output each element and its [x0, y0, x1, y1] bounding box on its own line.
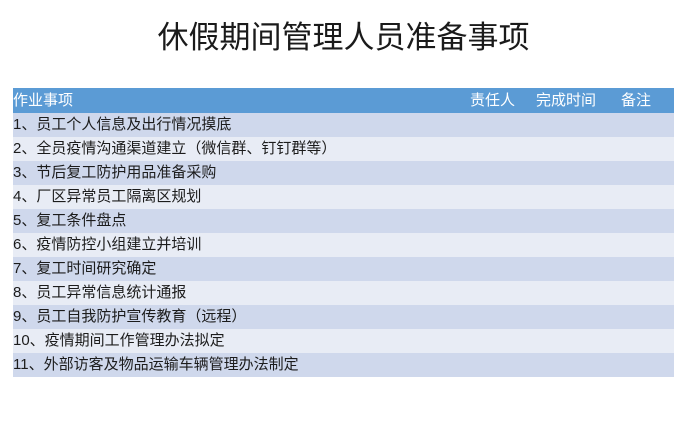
column-header-owner: 责任人: [470, 88, 536, 113]
cell-remark[interactable]: [621, 209, 674, 233]
cell-owner[interactable]: [470, 233, 536, 257]
table-row: 2、全员疫情沟通渠道建立（微信群、钉钉群等）: [13, 137, 674, 161]
cell-item: 2、全员疫情沟通渠道建立（微信群、钉钉群等）: [13, 137, 470, 161]
cell-item: 1、员工个人信息及出行情况摸底: [13, 113, 470, 137]
cell-remark[interactable]: [621, 137, 674, 161]
table-row: 10、疫情期间工作管理办法拟定: [13, 329, 674, 353]
cell-time[interactable]: [536, 305, 621, 329]
table-row: 7、复工时间研究确定: [13, 257, 674, 281]
table-header: 作业事项 责任人 完成时间 备注: [13, 88, 674, 113]
cell-time[interactable]: [536, 329, 621, 353]
cell-item: 6、疫情防控小组建立并培训: [13, 233, 470, 257]
cell-time[interactable]: [536, 257, 621, 281]
cell-owner[interactable]: [470, 305, 536, 329]
cell-owner[interactable]: [470, 113, 536, 137]
cell-item: 7、复工时间研究确定: [13, 257, 470, 281]
document-page: 休假期间管理人员准备事项 作业事项 责任人 完成时间 备注 1、员工个人信息及出…: [0, 0, 687, 424]
cell-owner[interactable]: [470, 209, 536, 233]
cell-owner[interactable]: [470, 281, 536, 305]
table-row: 4、厂区异常员工隔离区规划: [13, 185, 674, 209]
cell-time[interactable]: [536, 281, 621, 305]
cell-remark[interactable]: [621, 281, 674, 305]
cell-owner[interactable]: [470, 257, 536, 281]
table-body: 1、员工个人信息及出行情况摸底 2、全员疫情沟通渠道建立（微信群、钉钉群等） 3…: [13, 113, 674, 377]
cell-item: 4、厂区异常员工隔离区规划: [13, 185, 470, 209]
cell-time[interactable]: [536, 161, 621, 185]
column-header-completion-time: 完成时间: [536, 88, 621, 113]
cell-remark[interactable]: [621, 257, 674, 281]
preparation-items-table: 作业事项 责任人 完成时间 备注 1、员工个人信息及出行情况摸底 2、全员疫情沟…: [13, 88, 674, 377]
table-row: 6、疫情防控小组建立并培训: [13, 233, 674, 257]
cell-item: 3、节后复工防护用品准备采购: [13, 161, 470, 185]
page-title: 休假期间管理人员准备事项: [0, 18, 687, 58]
table-row: 9、员工自我防护宣传教育（远程）: [13, 305, 674, 329]
cell-owner[interactable]: [470, 161, 536, 185]
cell-time[interactable]: [536, 233, 621, 257]
table-row: 8、员工异常信息统计通报: [13, 281, 674, 305]
cell-owner[interactable]: [470, 185, 536, 209]
column-header-remark: 备注: [621, 88, 674, 113]
table-row: 5、复工条件盘点: [13, 209, 674, 233]
cell-time[interactable]: [536, 353, 621, 377]
table-header-row: 作业事项 责任人 完成时间 备注: [13, 88, 674, 113]
table-row: 11、外部访客及物品运输车辆管理办法制定: [13, 353, 674, 377]
cell-owner[interactable]: [470, 353, 536, 377]
cell-remark[interactable]: [621, 353, 674, 377]
cell-remark[interactable]: [621, 113, 674, 137]
cell-time[interactable]: [536, 185, 621, 209]
cell-item: 8、员工异常信息统计通报: [13, 281, 470, 305]
cell-remark[interactable]: [621, 185, 674, 209]
table-row: 3、节后复工防护用品准备采购: [13, 161, 674, 185]
cell-time[interactable]: [536, 113, 621, 137]
column-header-item: 作业事项: [13, 88, 470, 113]
cell-item: 11、外部访客及物品运输车辆管理办法制定: [13, 353, 470, 377]
cell-remark[interactable]: [621, 233, 674, 257]
cell-time[interactable]: [536, 137, 621, 161]
cell-item: 5、复工条件盘点: [13, 209, 470, 233]
cell-owner[interactable]: [470, 137, 536, 161]
table-row: 1、员工个人信息及出行情况摸底: [13, 113, 674, 137]
cell-time[interactable]: [536, 209, 621, 233]
cell-item: 9、员工自我防护宣传教育（远程）: [13, 305, 470, 329]
cell-item: 10、疫情期间工作管理办法拟定: [13, 329, 470, 353]
cell-remark[interactable]: [621, 329, 674, 353]
cell-remark[interactable]: [621, 305, 674, 329]
cell-remark[interactable]: [621, 161, 674, 185]
cell-owner[interactable]: [470, 329, 536, 353]
